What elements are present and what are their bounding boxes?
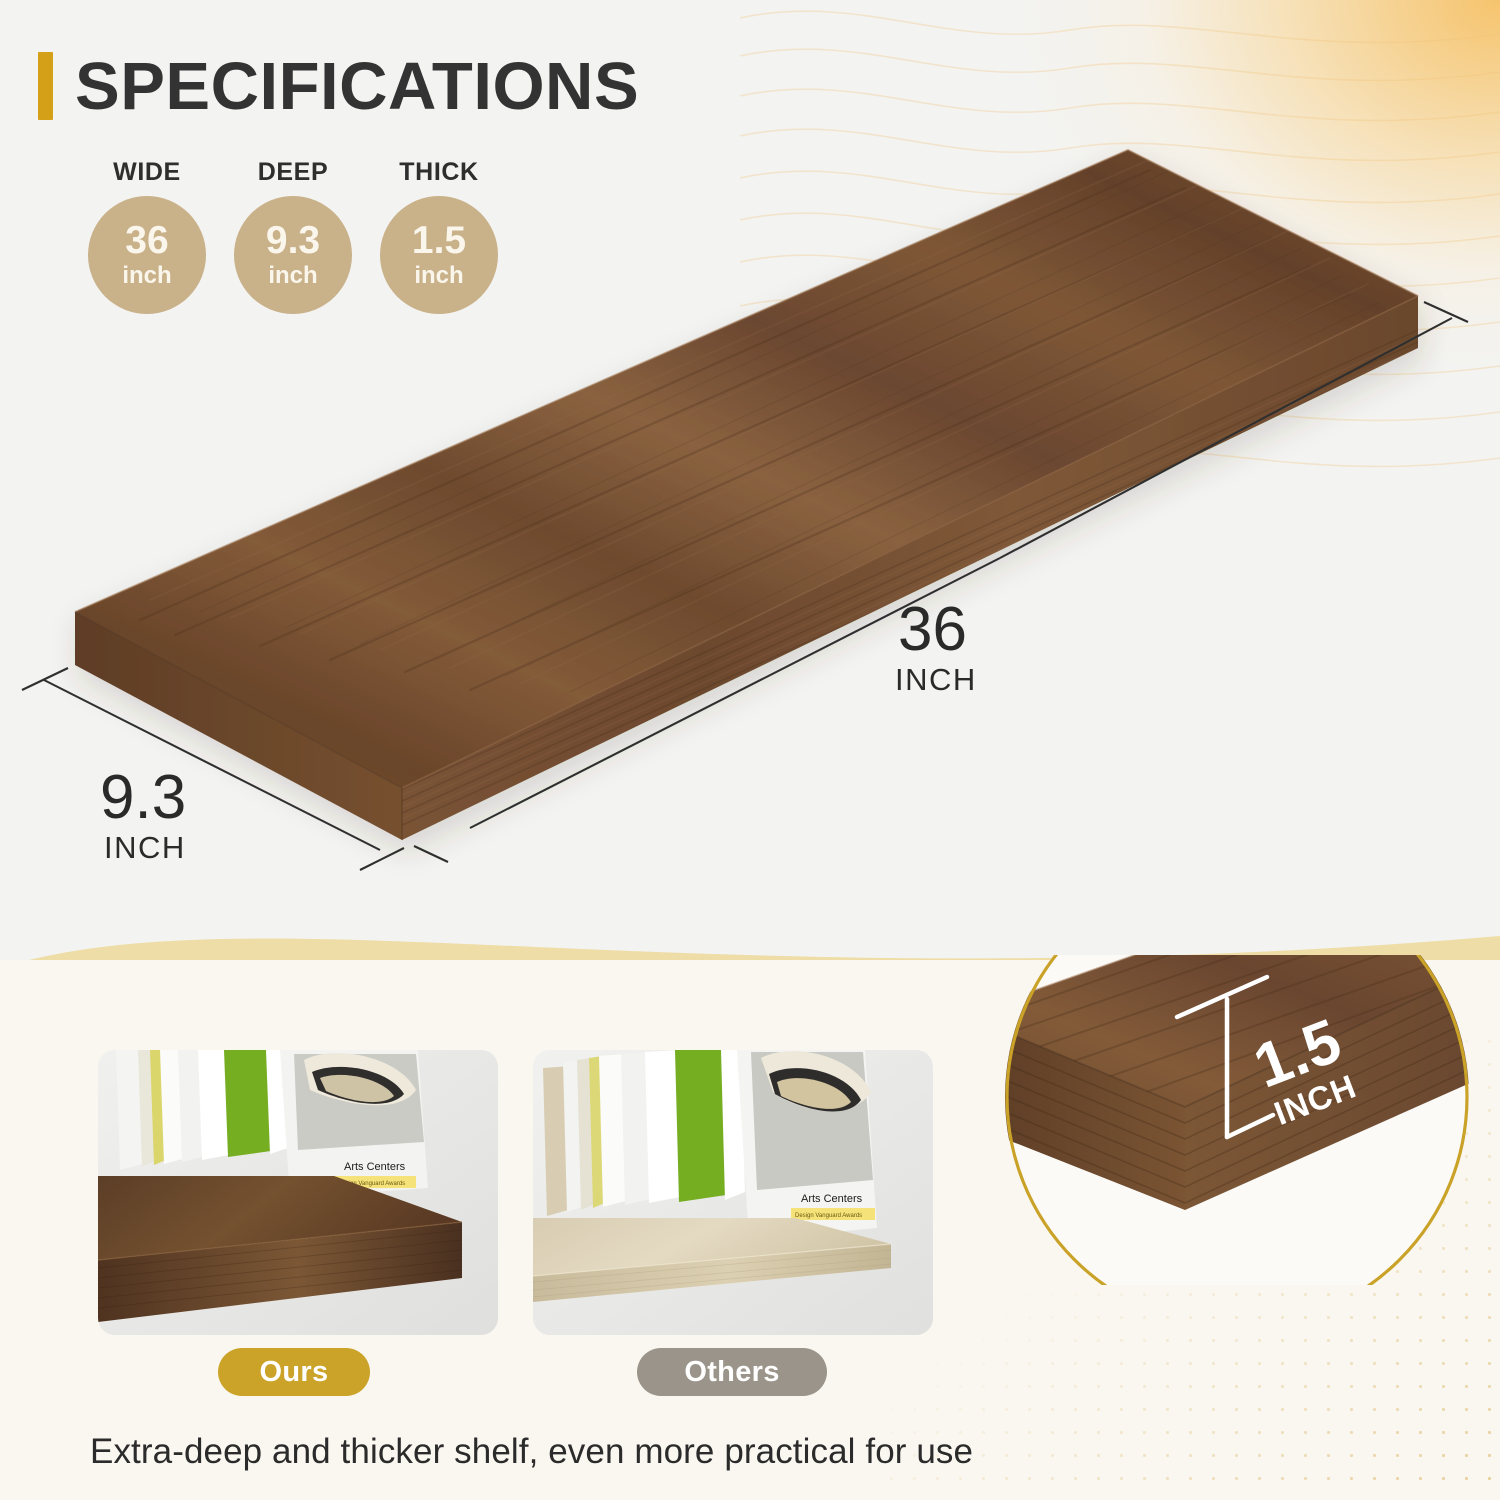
comparison-caption: Extra-deep and thicker shelf, even more … (90, 1432, 973, 1472)
specifications-section: SPECIFICATIONS WIDE 36 inch DEEP 9.3 inc… (0, 0, 1500, 960)
others-scene: Arts Centers Design Vanguard Awards (533, 1050, 933, 1335)
svg-text:Design Vanguard Awards: Design Vanguard Awards (795, 1213, 862, 1219)
comparison-card-ours: Arts Centers Design Vanguard Awards (98, 1050, 498, 1335)
badge-others: Others (637, 1348, 827, 1396)
shelf-3d-model (75, 150, 1418, 840)
dimension-depth-value: 9.3 (100, 763, 186, 832)
thickness-detail-inset: 1.5 INCH (1005, 955, 1470, 1285)
dimension-length-unit: INCH (895, 662, 977, 697)
dimension-depth-unit: INCH (104, 830, 186, 865)
product-illustration: 36 INCH 9.3 INCH (0, 0, 1500, 960)
book-title-others: Arts Centers (801, 1193, 863, 1205)
ours-scene: Arts Centers Design Vanguard Awards (98, 1050, 498, 1335)
shelf-top-grain (75, 150, 1418, 788)
dimension-length-value: 36 (898, 595, 967, 664)
comparison-card-others: Arts Centers Design Vanguard Awards (533, 1050, 933, 1335)
badge-ours: Ours (218, 1348, 370, 1396)
book-title-ours: Arts Centers (344, 1161, 406, 1173)
